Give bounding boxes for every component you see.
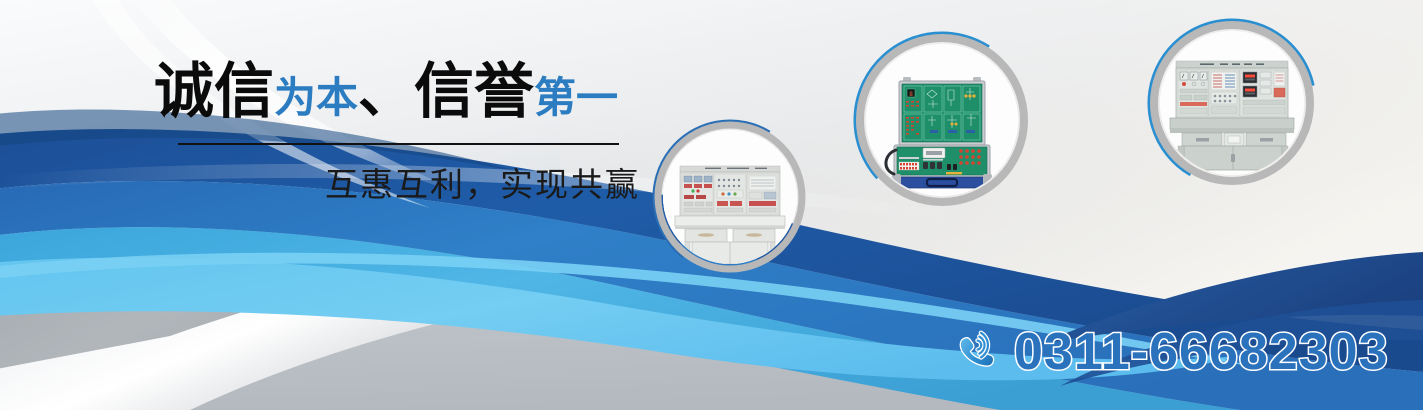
phone-number[interactable]: 0311-66682303 [1014,322,1389,382]
workbench-illustration [663,130,797,264]
headline-part-3: 信誉 [414,58,534,125]
headline-divider [178,143,619,145]
headline-block: 诚信为本、信誉第一 [0,62,640,130]
headline-part-2: 为本 [274,74,358,121]
product-photo-3 [1160,31,1304,175]
subtitle-text: 互惠互利，实现共赢 [325,166,640,203]
product-photo-2: 8 [866,44,1018,196]
headline-part-1: 诚信 [154,58,274,125]
product-photo-1 [663,130,797,264]
phone-waves-icon [952,328,1000,376]
headline-comma: 、 [358,61,414,124]
product-circle-2[interactable]: 8 [851,29,1033,211]
subtitle-block: 互惠互利，实现共赢 [0,158,662,206]
headline-part-4: 第一 [534,74,618,121]
promo-banner: 诚信为本、信誉第一 互惠互利，实现共赢 [0,0,1423,410]
product-circle-1[interactable] [650,117,810,277]
svg-text:8: 8 [909,91,913,98]
headline: 诚信为本、信誉第一 [0,62,640,130]
product-circle-3[interactable] [1145,16,1319,190]
motor-workbench-illustration [1160,31,1304,175]
contact-block[interactable]: 0311-66682303 [952,322,1389,382]
training-case-illustration: 8 [866,44,1018,196]
